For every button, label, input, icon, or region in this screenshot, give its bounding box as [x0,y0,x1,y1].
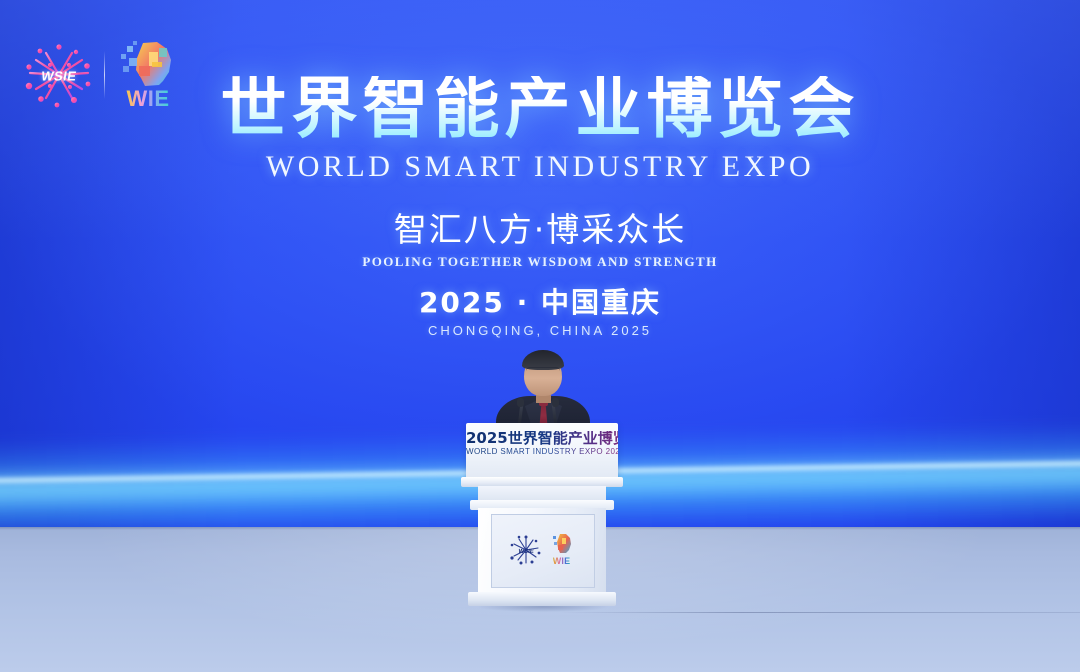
dateline-chinese: 2025 · 中国重庆 [0,288,1080,319]
expo-headline: 世界智能产业博览会 WORLD SMART INDUSTRY EXPO [0,76,1080,183]
stage-floor-sheen [0,527,1080,672]
microphone-head-right [552,398,559,407]
speaker-glasses [526,367,560,375]
expo-slogan: 智汇八方·博采众长 POOLING TOGETHER WISDOM AND ST… [0,212,1080,270]
dateline-english: CHONGQING, CHINA 2025 [0,323,1080,338]
expo-title-english: WORLD SMART INDUSTRY EXPO [0,150,1080,183]
slogan-english: POOLING TOGETHER WISDOM AND STRENGTH [0,254,1080,270]
expo-dateline: 2025 · 中国重庆 CHONGQING, CHINA 2025 [0,288,1080,338]
conference-stage-photo: WSIE [0,0,1080,672]
speaker-figure [496,352,590,448]
expo-title-chinese: 世界智能产业博览会 [0,76,1080,142]
microphone-head-left [517,398,524,407]
slogan-chinese: 智汇八方·博采众长 [0,212,1080,248]
stage-floor-seam [560,612,1080,613]
